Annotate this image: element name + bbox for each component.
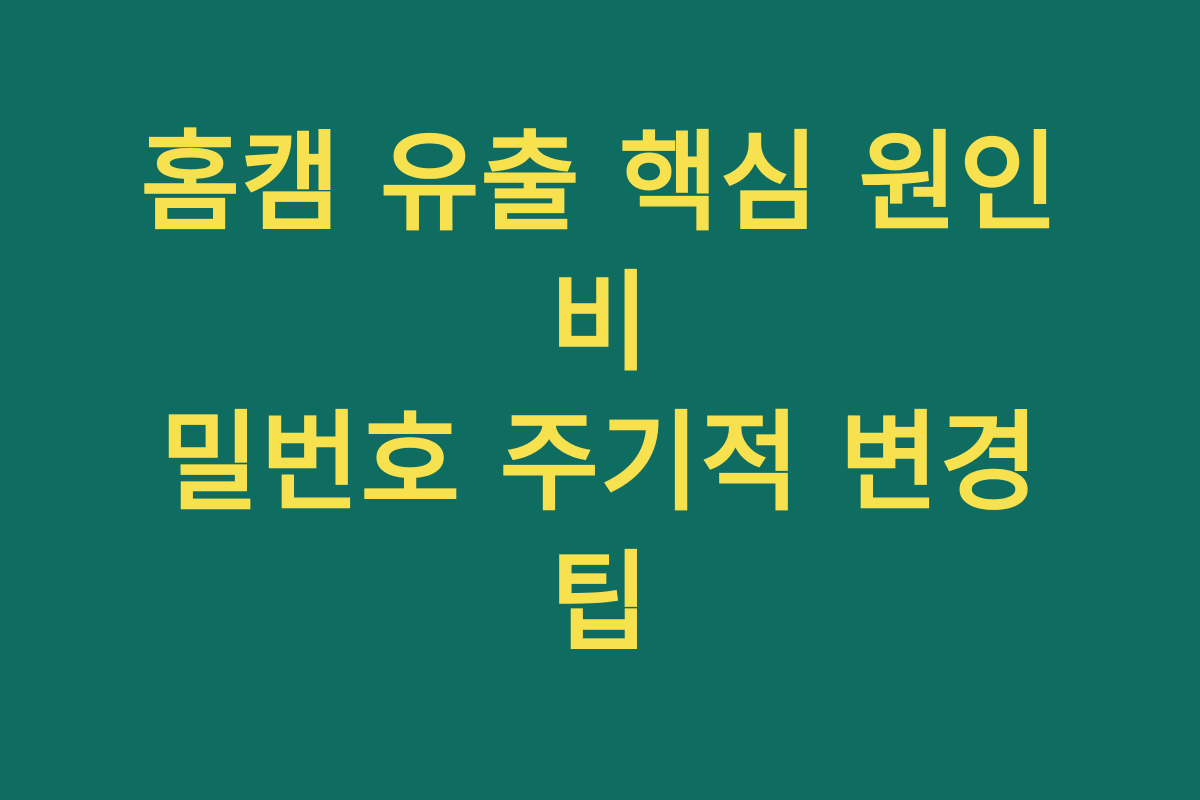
title-card-banner: 홈캠 유출 핵심 원인 비 밀번호 주기적 변경 팁 bbox=[0, 0, 1200, 800]
page-title: 홈캠 유출 핵심 원인 비 밀번호 주기적 변경 팁 bbox=[100, 114, 1100, 674]
